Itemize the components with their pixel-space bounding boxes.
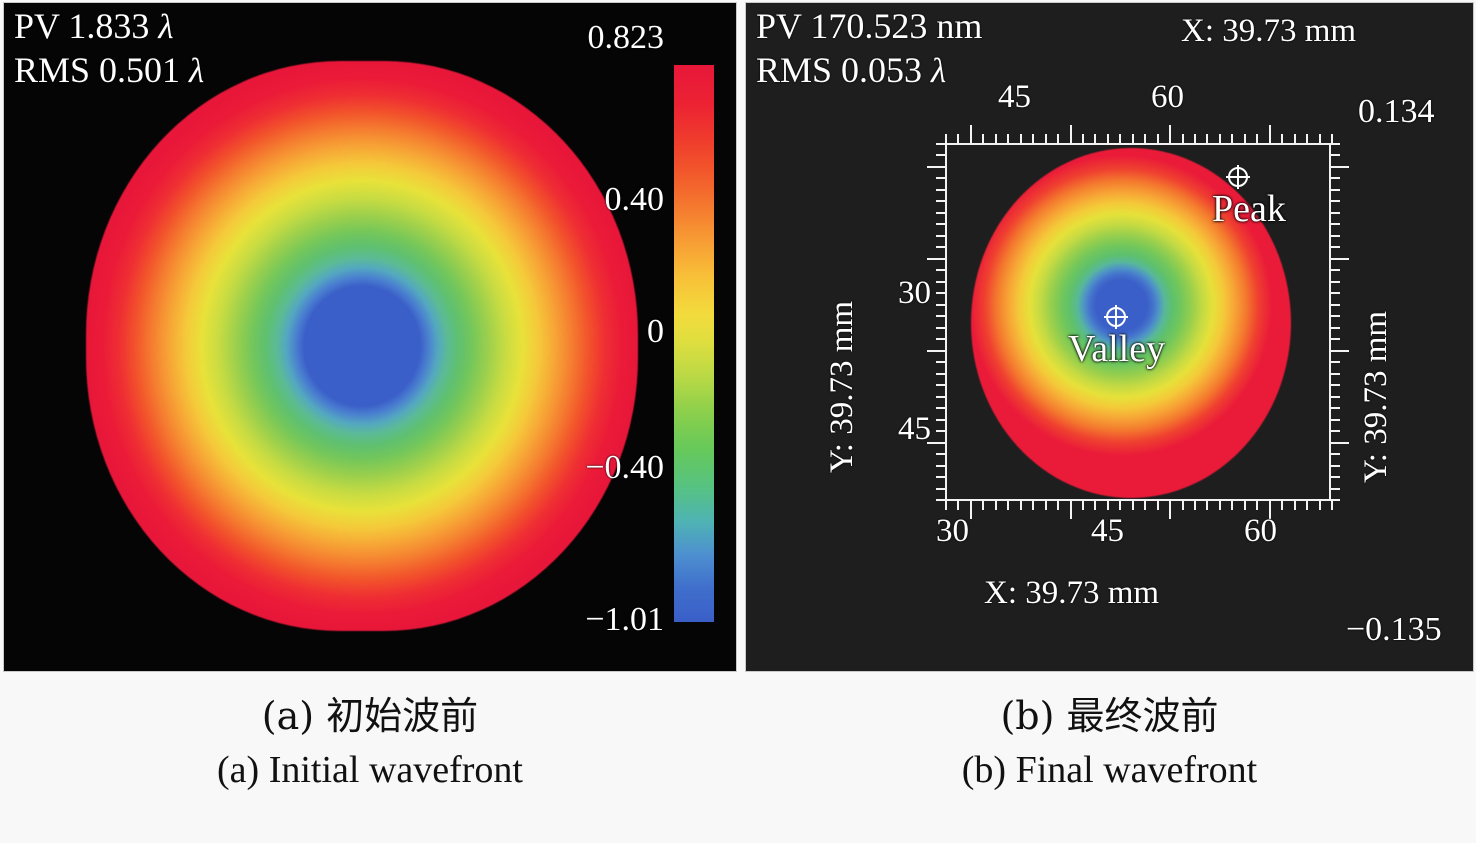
caption-initial: (a) 初始波前 (a) Initial wavefront bbox=[3, 690, 737, 798]
axis-tick-minor bbox=[1244, 501, 1246, 510]
axis-tick-major bbox=[1169, 501, 1171, 519]
axis-tick-major bbox=[970, 501, 972, 519]
caption-final-cn: (b) 最终波前 bbox=[745, 690, 1474, 744]
axis-tick-major bbox=[1331, 350, 1349, 352]
axis-tick-minor bbox=[1256, 134, 1258, 143]
caption-final: (b) 最终波前 (b) Final wavefront bbox=[745, 690, 1474, 798]
axis-tick-minor bbox=[1020, 501, 1022, 510]
axis-tick-minor bbox=[1331, 235, 1340, 237]
axis-tick-minor bbox=[1331, 396, 1340, 398]
axis-tick-minor bbox=[936, 315, 945, 317]
axis-tick-minor bbox=[1007, 501, 1009, 510]
axis-tick-minor bbox=[982, 134, 984, 143]
axis-tick-minor bbox=[1331, 407, 1340, 409]
pv-value-initial: PV 1.833 bbox=[14, 6, 149, 46]
axis-tick-minor bbox=[1331, 384, 1340, 386]
colorbar-tick-040-initial: 0.40 bbox=[504, 181, 664, 219]
axis-tick-minor bbox=[1331, 154, 1340, 156]
axis-tick-minor bbox=[1182, 134, 1184, 143]
axis-tick-minor bbox=[1082, 501, 1084, 510]
axis-tick-minor bbox=[1194, 134, 1196, 143]
axis-tick-minor bbox=[1057, 501, 1059, 510]
axis-tick-minor bbox=[936, 246, 945, 248]
axis-tick-minor bbox=[936, 189, 945, 191]
axis-tick-minor bbox=[936, 396, 945, 398]
axis-tick-minor bbox=[936, 488, 945, 490]
axis-tick-minor bbox=[936, 281, 945, 283]
axis-tick-major bbox=[927, 258, 945, 260]
axis-tick-minor bbox=[1132, 501, 1134, 510]
axis-tick-major bbox=[1269, 125, 1271, 143]
axis-tick-minor bbox=[1306, 134, 1308, 143]
axis-tick-minor bbox=[1032, 134, 1034, 143]
axis-tick-minor bbox=[1331, 281, 1340, 283]
axis-tick-minor bbox=[957, 501, 959, 510]
x-tick-bottom-60: 60 bbox=[1244, 513, 1277, 550]
axis-tick-minor bbox=[1082, 134, 1084, 143]
axis-tick-minor bbox=[936, 430, 945, 432]
pv-value-final: PV 170.523 bbox=[756, 6, 927, 46]
axis-tick-minor bbox=[1045, 501, 1047, 510]
axis-tick-minor bbox=[1281, 501, 1283, 510]
axis-tick-minor bbox=[936, 223, 945, 225]
axis-tick-minor bbox=[1219, 501, 1221, 510]
axis-tick-major bbox=[970, 125, 972, 143]
axis-tick-major bbox=[1331, 166, 1349, 168]
axis-tick-minor bbox=[936, 465, 945, 467]
axis-tick-minor bbox=[1045, 134, 1047, 143]
colorbar-tick-neg040-initial: −0.40 bbox=[504, 449, 664, 487]
axis-tick-minor bbox=[936, 407, 945, 409]
axis-tick-major bbox=[1331, 442, 1349, 444]
y-tick-left-30: 30 bbox=[898, 275, 931, 312]
axis-tick-minor bbox=[1331, 338, 1340, 340]
axis-tick-minor bbox=[1182, 501, 1184, 510]
rms-line-final: RMS 0.053 λ bbox=[756, 49, 982, 93]
axis-tick-minor bbox=[936, 361, 945, 363]
axis-tick-minor bbox=[1020, 134, 1022, 143]
x-axis-title-top: X: 39.73 mm bbox=[1181, 13, 1356, 50]
axis-tick-minor bbox=[936, 384, 945, 386]
axis-tick-minor bbox=[936, 154, 945, 156]
pv-line-initial: PV 1.833 λ bbox=[14, 5, 204, 49]
y-axis-title-left: Y: 39.73 mm bbox=[824, 301, 861, 473]
axis-tick-minor bbox=[936, 269, 945, 271]
axis-tick-minor bbox=[1331, 430, 1340, 432]
panel-initial-wavefront: PV 1.833 λ RMS 0.501 λ 0.823 0.40 0 −0.4… bbox=[3, 2, 737, 672]
axis-tick-minor bbox=[995, 501, 997, 510]
colorbar-max-initial: 0.823 bbox=[504, 19, 664, 57]
axis-tick-minor bbox=[936, 499, 945, 501]
axis-tick-minor bbox=[1256, 501, 1258, 510]
axis-tick-minor bbox=[1331, 200, 1340, 202]
valley-label: Valley bbox=[1068, 327, 1165, 371]
axis-tick-minor bbox=[1032, 501, 1034, 510]
axis-tick-minor bbox=[1294, 134, 1296, 143]
axis-tick-major bbox=[1169, 125, 1171, 143]
peak-label: Peak bbox=[1212, 187, 1286, 231]
x-tick-top-60: 60 bbox=[1151, 79, 1184, 116]
pv-unit-initial: λ bbox=[158, 7, 173, 46]
axis-tick-minor bbox=[1157, 134, 1159, 143]
axis-tick-minor bbox=[1331, 476, 1340, 478]
axis-tick-minor bbox=[1306, 501, 1308, 510]
valley-marker[interactable]: Valley bbox=[1106, 307, 1126, 327]
axis-tick-minor bbox=[936, 419, 945, 421]
axis-tick-minor bbox=[936, 476, 945, 478]
axis-tick-minor bbox=[936, 373, 945, 375]
axis-tick-minor bbox=[1132, 134, 1134, 143]
axis-tick-minor bbox=[982, 501, 984, 510]
axis-tick-minor bbox=[936, 200, 945, 202]
axis-tick-minor bbox=[1331, 177, 1340, 179]
axis-tick-minor bbox=[936, 143, 945, 145]
axis-tick-minor bbox=[1331, 465, 1340, 467]
axis-tick-minor bbox=[1319, 501, 1321, 510]
peak-crosshair-icon bbox=[1228, 167, 1248, 187]
axis-tick-minor bbox=[936, 235, 945, 237]
caption-initial-cn: (a) 初始波前 bbox=[3, 690, 737, 744]
axis-tick-minor bbox=[1331, 304, 1340, 306]
axis-tick-minor bbox=[1331, 246, 1340, 248]
axis-tick-minor bbox=[1007, 134, 1009, 143]
axis-tick-major bbox=[927, 350, 945, 352]
pv-line-final: PV 170.523 nm bbox=[756, 5, 982, 49]
readout-final: PV 170.523 nm RMS 0.053 λ bbox=[756, 5, 982, 93]
axis-tick-minor bbox=[1194, 501, 1196, 510]
axis-tick-minor bbox=[1144, 501, 1146, 510]
axis-tick-minor bbox=[945, 501, 947, 510]
colorbar-max-final: 0.134 bbox=[1358, 93, 1435, 131]
rms-line-initial: RMS 0.501 λ bbox=[14, 49, 204, 93]
caption-initial-en: (a) Initial wavefront bbox=[3, 744, 737, 798]
y-ruler-right bbox=[1331, 143, 1352, 501]
rms-value-initial: RMS 0.501 bbox=[14, 50, 180, 90]
colorbar-min-final: −0.135 bbox=[1346, 611, 1442, 649]
axis-tick-minor bbox=[1206, 501, 1208, 510]
axis-tick-major bbox=[927, 166, 945, 168]
axis-tick-minor bbox=[936, 453, 945, 455]
axis-tick-minor bbox=[1119, 501, 1121, 510]
axis-tick-minor bbox=[1119, 134, 1121, 143]
axis-tick-minor bbox=[1331, 223, 1340, 225]
axis-tick-minor bbox=[1094, 134, 1096, 143]
rms-value-final: RMS 0.053 bbox=[756, 50, 922, 90]
axis-tick-minor bbox=[1331, 327, 1340, 329]
axis-tick-minor bbox=[1107, 134, 1109, 143]
readout-initial: PV 1.833 λ RMS 0.501 λ bbox=[14, 5, 204, 93]
axis-tick-minor bbox=[1331, 501, 1333, 510]
colorbar-min-initial: −1.01 bbox=[504, 601, 664, 639]
axis-tick-minor bbox=[1331, 419, 1340, 421]
axis-tick-minor bbox=[1331, 315, 1340, 317]
axis-tick-minor bbox=[1331, 143, 1340, 145]
axis-tick-minor bbox=[1107, 501, 1109, 510]
x-ruler-top bbox=[945, 122, 1333, 143]
pv-unit-final: nm bbox=[936, 6, 982, 46]
axis-tick-minor bbox=[936, 177, 945, 179]
x-tick-bottom-45: 45 bbox=[1091, 513, 1124, 550]
axis-tick-minor bbox=[1244, 134, 1246, 143]
axis-tick-minor bbox=[936, 292, 945, 294]
axis-tick-minor bbox=[1331, 453, 1340, 455]
axis-tick-minor bbox=[1331, 134, 1333, 143]
valley-crosshair-icon bbox=[1106, 307, 1126, 327]
axis-tick-minor bbox=[1057, 134, 1059, 143]
axis-tick-minor bbox=[1281, 134, 1283, 143]
axis-tick-minor bbox=[1294, 501, 1296, 510]
colorbar-tick-0-initial: 0 bbox=[504, 313, 664, 351]
axis-tick-major bbox=[1331, 258, 1349, 260]
axis-tick-minor bbox=[1331, 361, 1340, 363]
axis-tick-minor bbox=[1319, 134, 1321, 143]
figure-root: PV 1.833 λ RMS 0.501 λ 0.823 0.40 0 −0.4… bbox=[0, 0, 1476, 843]
caption-final-en: (b) Final wavefront bbox=[745, 744, 1474, 798]
peak-marker[interactable]: Peak bbox=[1228, 167, 1248, 187]
axis-tick-minor bbox=[1331, 269, 1340, 271]
axis-tick-minor bbox=[936, 327, 945, 329]
axis-tick-minor bbox=[1231, 134, 1233, 143]
axis-tick-minor bbox=[1231, 501, 1233, 510]
axis-tick-minor bbox=[936, 338, 945, 340]
x-tick-top-45: 45 bbox=[998, 79, 1031, 116]
rms-unit-final: λ bbox=[931, 51, 946, 90]
axis-tick-minor bbox=[1331, 212, 1340, 214]
axis-tick-minor bbox=[945, 134, 947, 143]
y-tick-left-45: 45 bbox=[898, 411, 931, 448]
axis-tick-major bbox=[1070, 125, 1072, 143]
axis-tick-minor bbox=[1144, 134, 1146, 143]
axis-tick-minor bbox=[936, 212, 945, 214]
axis-tick-minor bbox=[1157, 501, 1159, 510]
axis-tick-minor bbox=[936, 304, 945, 306]
axis-tick-minor bbox=[1094, 501, 1096, 510]
x-tick-bottom-30: 30 bbox=[936, 513, 969, 550]
axis-tick-major bbox=[1070, 501, 1072, 519]
colorbar-initial bbox=[674, 65, 714, 622]
x-axis-title-bottom: X: 39.73 mm bbox=[984, 575, 1159, 612]
axis-tick-minor bbox=[1331, 373, 1340, 375]
y-axis-title-right: Y: 39.73 mm bbox=[1358, 311, 1395, 483]
axis-tick-minor bbox=[1331, 488, 1340, 490]
axis-tick-minor bbox=[1331, 189, 1340, 191]
axis-tick-minor bbox=[1206, 134, 1208, 143]
axis-tick-minor bbox=[995, 134, 997, 143]
axis-tick-minor bbox=[957, 134, 959, 143]
axis-tick-minor bbox=[1331, 292, 1340, 294]
rms-unit-initial: λ bbox=[189, 51, 204, 90]
axis-tick-minor bbox=[1219, 134, 1221, 143]
axis-tick-minor bbox=[1331, 499, 1340, 501]
